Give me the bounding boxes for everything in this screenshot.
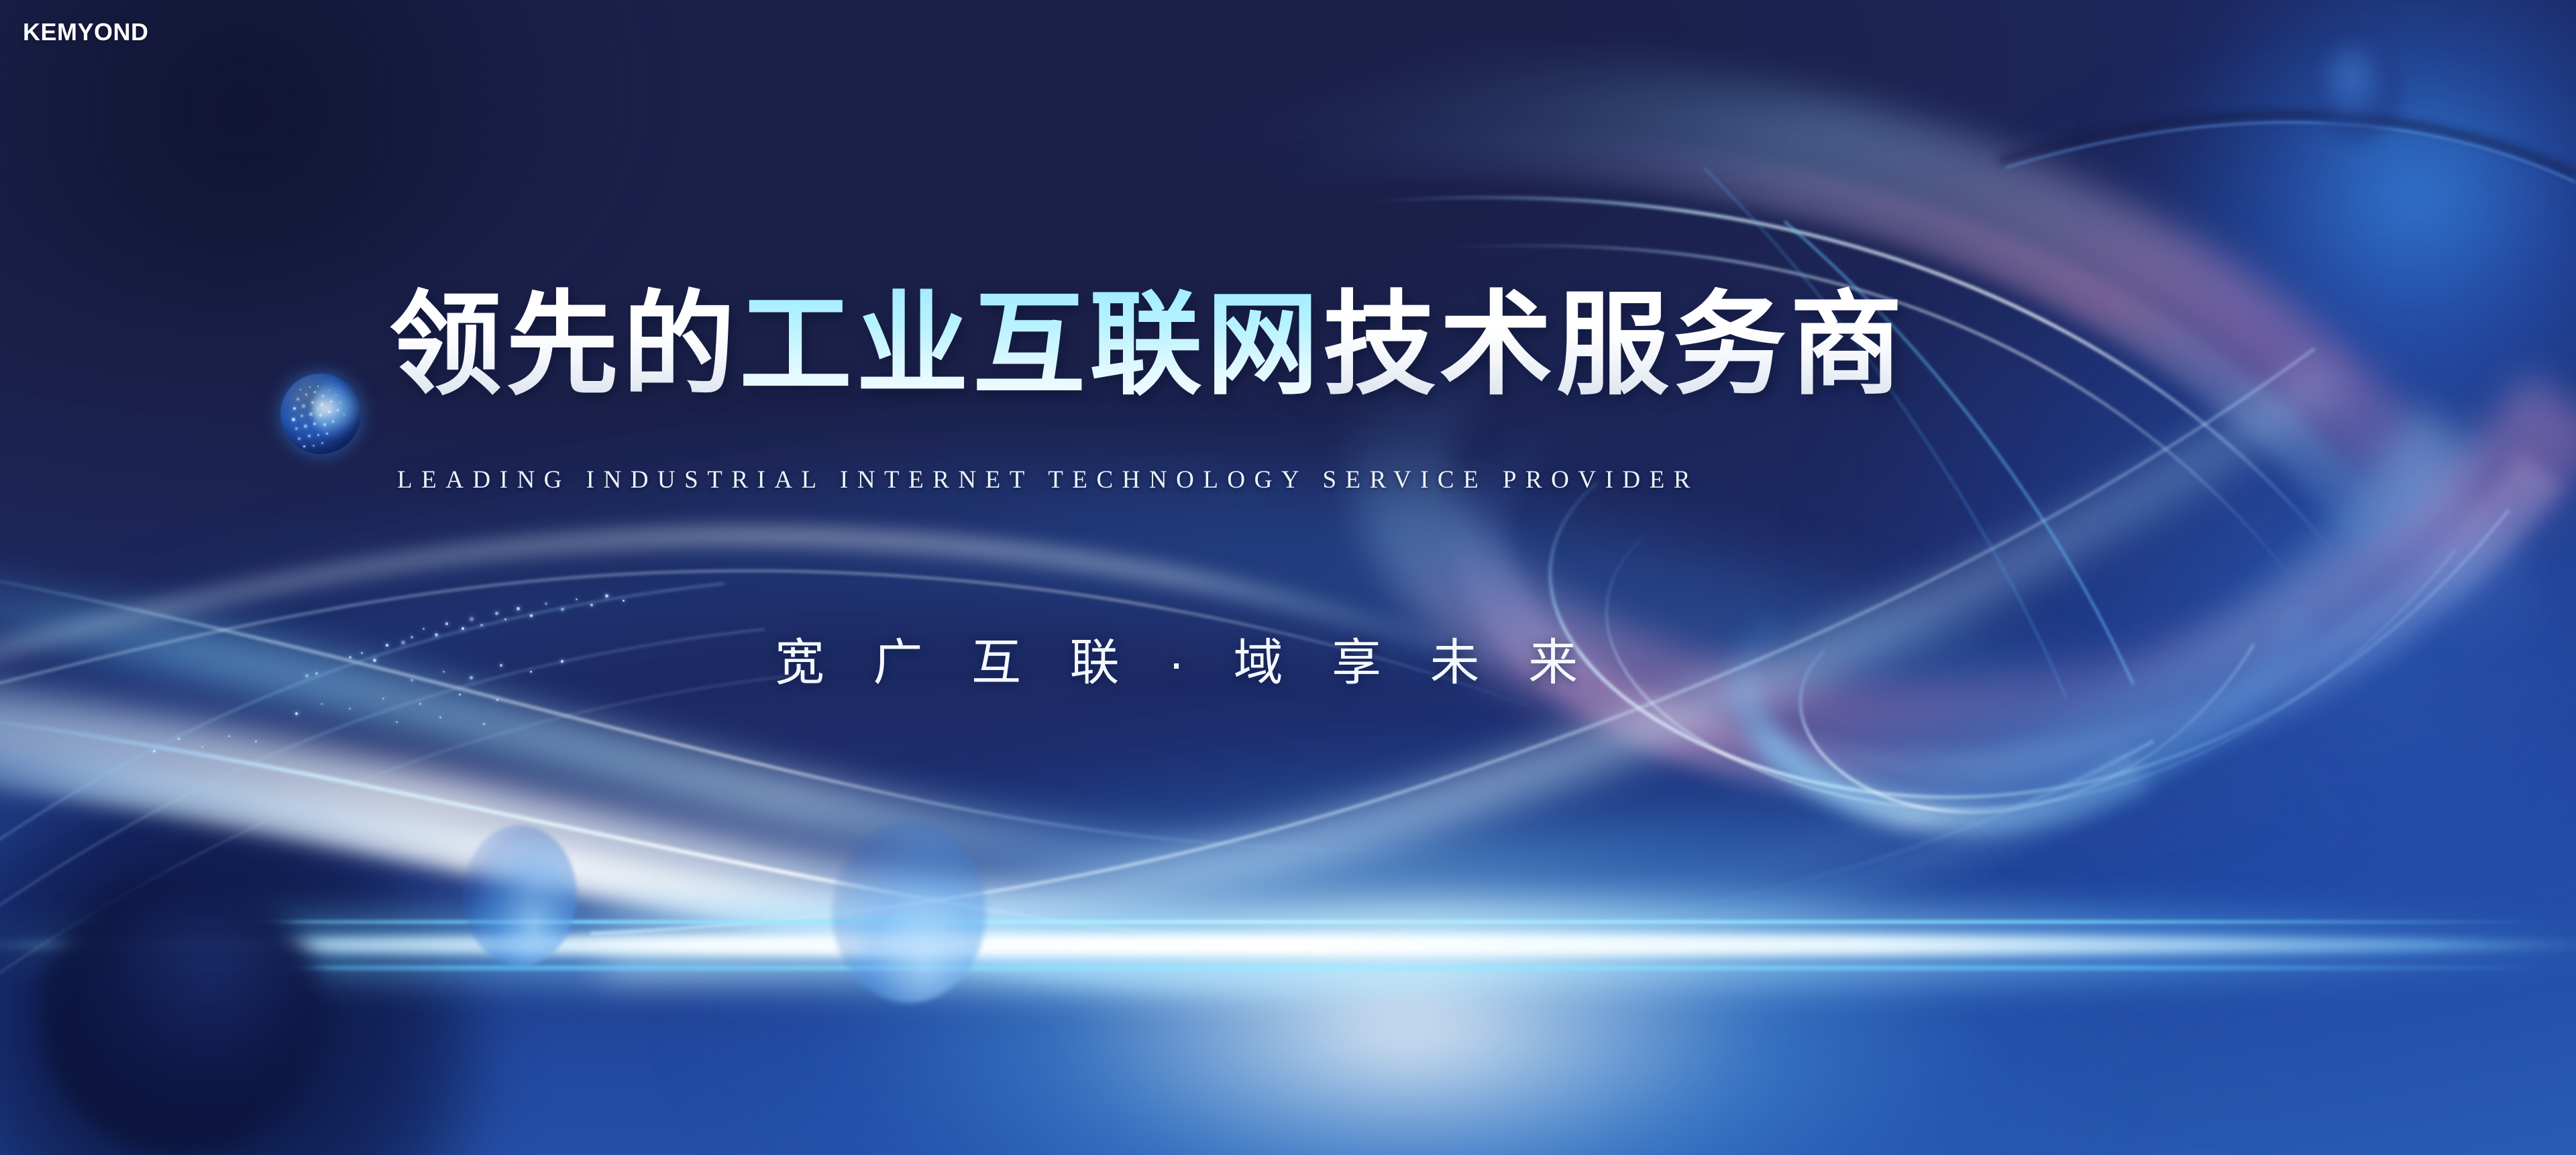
particle-dot [483, 723, 485, 725]
dark-sphere-bottom-left [40, 872, 322, 1154]
sphere-dot [297, 398, 299, 400]
particle-dot [495, 612, 498, 615]
light-streak-upper [0, 920, 2576, 924]
sphere-dot [321, 403, 323, 406]
sphere-dot [295, 427, 298, 430]
page-title-segment-0: 领先的 [389, 282, 739, 408]
sphere-dot [337, 409, 339, 411]
particle-dot [295, 712, 298, 715]
page-title-segment-2: 技术服务商 [1323, 282, 1907, 408]
sphere-dot [303, 445, 305, 447]
page-subtitle: LEADING INDUSTRIAL INTERNET TECHNOLOGY S… [397, 465, 1699, 494]
particle-dot [605, 594, 608, 598]
sphere-dot [298, 437, 301, 440]
sphere-dot [314, 391, 316, 393]
sphere-dot [302, 404, 305, 408]
particle-dot [561, 608, 564, 611]
sphere-dot [305, 394, 307, 396]
sphere-dot [304, 425, 307, 428]
sphere-dot [317, 434, 319, 436]
sphere-dot [330, 400, 332, 402]
particle-dot [153, 750, 156, 753]
particle-dot [496, 699, 498, 701]
sphere-dot [328, 410, 331, 413]
particle-dot [545, 602, 547, 605]
brand-logo[interactable]: KEMYOND [23, 18, 149, 46]
particle-dot [480, 624, 483, 626]
particle-dot [470, 617, 474, 621]
particle-dot [530, 614, 533, 617]
sphere-dot [300, 389, 301, 390]
blue-sphere-top-right [2314, 40, 2402, 141]
sphere-dot [309, 386, 311, 388]
particle-dot [201, 746, 203, 748]
page-tagline: 宽 广 互 联 · 域 享 未 来 [775, 622, 1595, 694]
sphere-dot [292, 418, 295, 421]
sphere-dot [323, 423, 326, 426]
particle-dot [462, 627, 464, 630]
sphere-dot [340, 402, 341, 403]
background-glow-top-left [0, 0, 604, 322]
particle-dot [396, 721, 398, 723]
sphere-dot [313, 423, 316, 425]
particle-dot [500, 664, 502, 667]
particle-dot [361, 652, 363, 654]
dot-sphere-icon [280, 374, 361, 454]
particle-dot [504, 618, 506, 620]
particle-dot [419, 703, 421, 705]
sphere-dot [293, 407, 296, 410]
particle-dot [423, 628, 425, 630]
sphere-dot [301, 415, 303, 417]
particle-dot [382, 698, 384, 700]
sphere-dot [308, 435, 311, 437]
hero-banner: KEMYOND 领先的工业互联网技术服务商 LEADING INDUSTRIAL… [0, 0, 2576, 1155]
page-title-segment-1: 工业互联网 [739, 282, 1323, 408]
particle-dot [443, 671, 445, 673]
particle-dot [623, 600, 625, 602]
particle-dot [178, 738, 180, 740]
particle-dot [435, 633, 438, 637]
sphere-dot [326, 433, 328, 435]
particle-dot [228, 735, 230, 737]
sphere-dot [321, 442, 323, 444]
background-glow-top-right [2113, 0, 2576, 429]
particle-dot [561, 660, 563, 663]
particle-dot [373, 659, 376, 662]
particle-dot [305, 674, 309, 677]
particle-dot [590, 604, 593, 606]
sphere-dot [332, 421, 334, 423]
particle-dot [386, 644, 388, 647]
particle-dot [459, 694, 461, 696]
sphere-dot [343, 414, 345, 415]
particle-dot [401, 641, 405, 645]
particle-dot [321, 703, 323, 705]
particle-dot [315, 672, 318, 675]
sphere-dot [311, 401, 314, 404]
sphere-dot [317, 386, 319, 387]
particle-dot [255, 740, 257, 742]
particle-dot [439, 716, 441, 718]
sphere-dot [322, 395, 324, 397]
particle-dot [349, 656, 352, 659]
particle-dot [445, 622, 448, 625]
particle-dot [470, 676, 473, 679]
page-title: 领先的工业互联网技术服务商 [389, 288, 1907, 401]
sphere-dot [335, 394, 337, 396]
particle-dot [349, 708, 351, 710]
particle-dot [517, 607, 520, 610]
sphere-dot [309, 412, 313, 416]
sphere-dot [313, 445, 315, 447]
particle-dot [411, 679, 413, 681]
sphere-dot [319, 414, 322, 417]
sphere-dot [329, 390, 330, 391]
particle-dot [530, 671, 532, 673]
particle-dot [576, 598, 578, 600]
particle-dot [411, 636, 413, 639]
light-streak-core [0, 934, 2576, 956]
light-streak-lower [0, 966, 2576, 970]
